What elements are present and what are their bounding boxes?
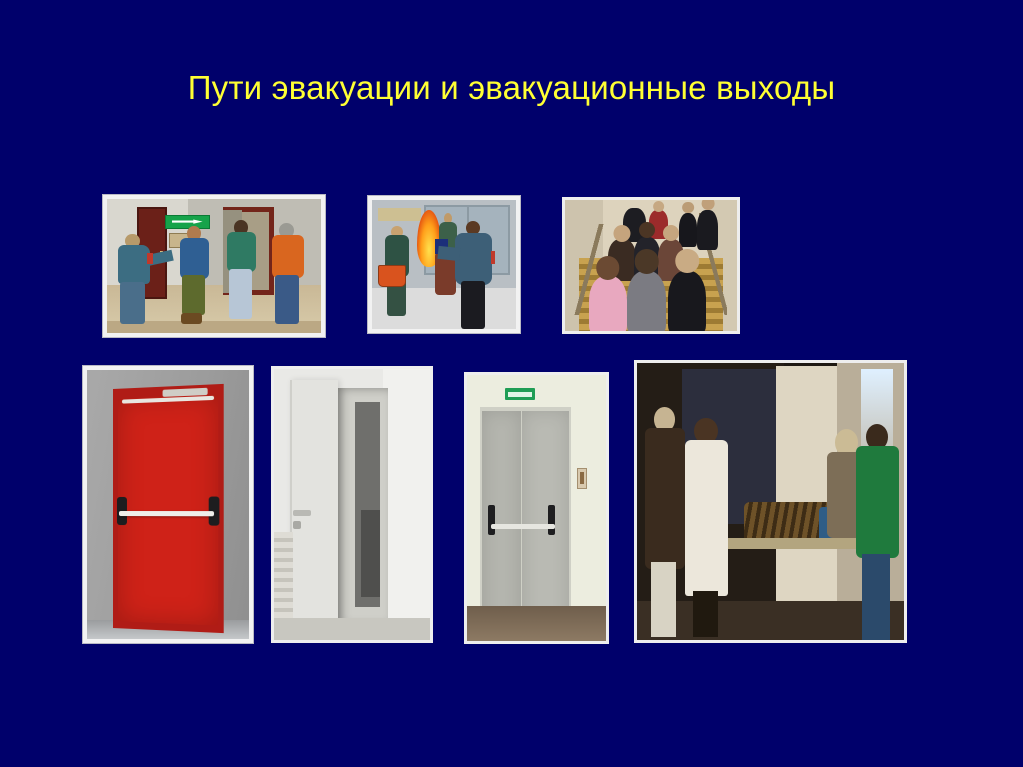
staircase-scene — [565, 200, 737, 331]
image-open-white-door — [271, 366, 433, 643]
wall-right — [383, 369, 430, 640]
wall-switch-icon — [577, 468, 587, 489]
image-fire-extinguishing — [368, 196, 520, 333]
person-torso — [227, 232, 256, 272]
floor — [467, 606, 606, 641]
person-head — [639, 222, 655, 238]
person-front-3 — [668, 271, 706, 331]
corridor-scene — [107, 199, 321, 333]
person-legs — [693, 591, 718, 636]
slide-canvas: Пути эвакуации и эвакуационные выходы — [0, 0, 1023, 767]
person-legs — [862, 554, 890, 640]
person-head — [596, 256, 619, 279]
fire-rail — [378, 208, 421, 221]
person-torso — [180, 238, 209, 280]
person-torso — [685, 440, 728, 596]
grey-door-scene — [467, 375, 606, 641]
person-shoe — [181, 313, 202, 324]
panic-bar-bracket-right — [548, 505, 555, 534]
fire-scene — [372, 200, 516, 329]
person-front-1 — [589, 276, 627, 331]
stretcher-scene — [637, 363, 904, 640]
person-head — [628, 200, 642, 210]
floor — [274, 618, 430, 640]
person-bystander — [645, 407, 685, 634]
door-handle — [293, 510, 312, 517]
bucket-icon — [378, 265, 406, 288]
panic-bar-bracket-left — [488, 505, 495, 534]
person-legs — [182, 275, 205, 315]
image-grey-double-door — [464, 372, 609, 644]
door-lock — [293, 521, 301, 529]
person-head — [701, 200, 714, 210]
person-front-2 — [627, 271, 667, 331]
image-red-fire-door — [83, 366, 253, 643]
person-torso — [455, 233, 492, 285]
room-shadow — [361, 510, 380, 597]
person-legs — [120, 282, 145, 324]
white-door-scene — [274, 369, 430, 640]
door-leaf — [290, 380, 339, 629]
red-door-scene — [87, 370, 249, 639]
person-running-2 — [225, 220, 259, 325]
person-torso — [272, 235, 304, 278]
image-stretcher-evacuation — [634, 360, 907, 643]
person-legs — [461, 281, 485, 329]
door-leaf-right — [522, 411, 569, 629]
person-pointing — [116, 234, 152, 322]
person-legs — [651, 562, 676, 637]
person-instructor — [453, 221, 496, 329]
image-staircase-crowd — [562, 197, 740, 334]
person-upper-4 — [697, 210, 718, 249]
person-running-1 — [178, 226, 212, 325]
person-head — [613, 225, 630, 242]
person-head — [663, 225, 679, 241]
image-corridor-evacuation — [103, 195, 325, 337]
person-head — [653, 201, 665, 213]
person-legs — [229, 269, 252, 319]
person-helper-2 — [856, 424, 899, 640]
armband-icon — [491, 251, 495, 264]
person-head — [634, 249, 659, 274]
person-torso — [645, 428, 685, 569]
armband-icon — [147, 253, 153, 264]
door-frame — [113, 384, 224, 634]
person-medic — [685, 418, 728, 634]
exit-sign-icon — [505, 388, 536, 400]
panic-push-bar — [119, 511, 214, 517]
door-panel — [118, 394, 218, 626]
person-running-3 — [270, 223, 306, 330]
person-legs — [275, 275, 300, 324]
person-upper-3 — [679, 213, 698, 247]
person-head — [682, 202, 694, 214]
page-title: Пути эвакуации и эвакуационные выходы — [0, 70, 1023, 106]
person-arm — [437, 245, 461, 260]
panic-push-bar — [491, 524, 555, 529]
person-torso — [856, 446, 899, 558]
